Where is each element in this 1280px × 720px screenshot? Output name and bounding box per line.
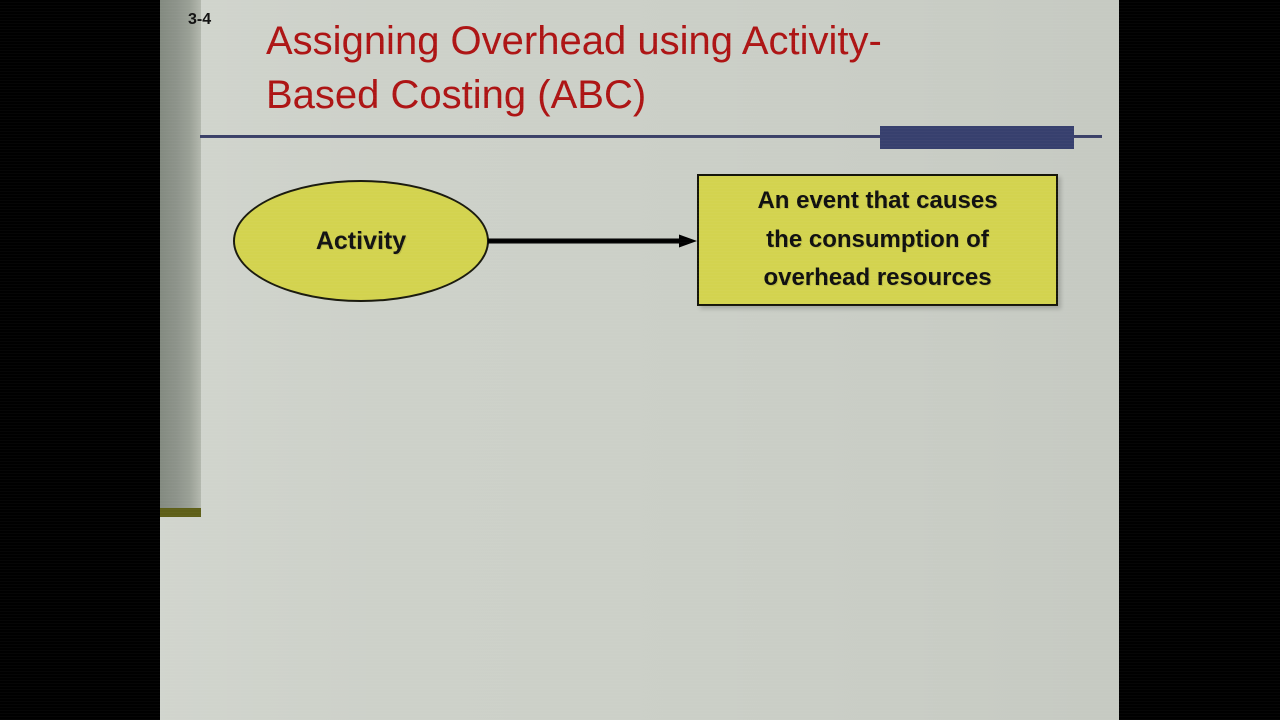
slide-number: 3-4 — [188, 12, 211, 28]
title-accent-bar — [880, 126, 1074, 149]
diagram-node-activity: Activity — [233, 180, 489, 302]
page-title: Assigning Overhead using Activity- Based… — [266, 14, 1046, 123]
video-frame: 3-4 Assigning Overhead using Activity- B… — [0, 0, 1280, 720]
slide-left-accent-strip-cap — [160, 508, 201, 517]
diagram-node-activity-label: Activity — [316, 227, 406, 256]
slide-left-accent-strip — [160, 0, 201, 511]
arrow-right-icon — [488, 234, 698, 248]
presentation-slide: 3-4 Assigning Overhead using Activity- B… — [160, 0, 1119, 720]
diagram-node-definition-text: An event that causes the consumption of … — [757, 182, 997, 299]
diagram-node-definition: An event that causes the consumption of … — [697, 174, 1058, 306]
